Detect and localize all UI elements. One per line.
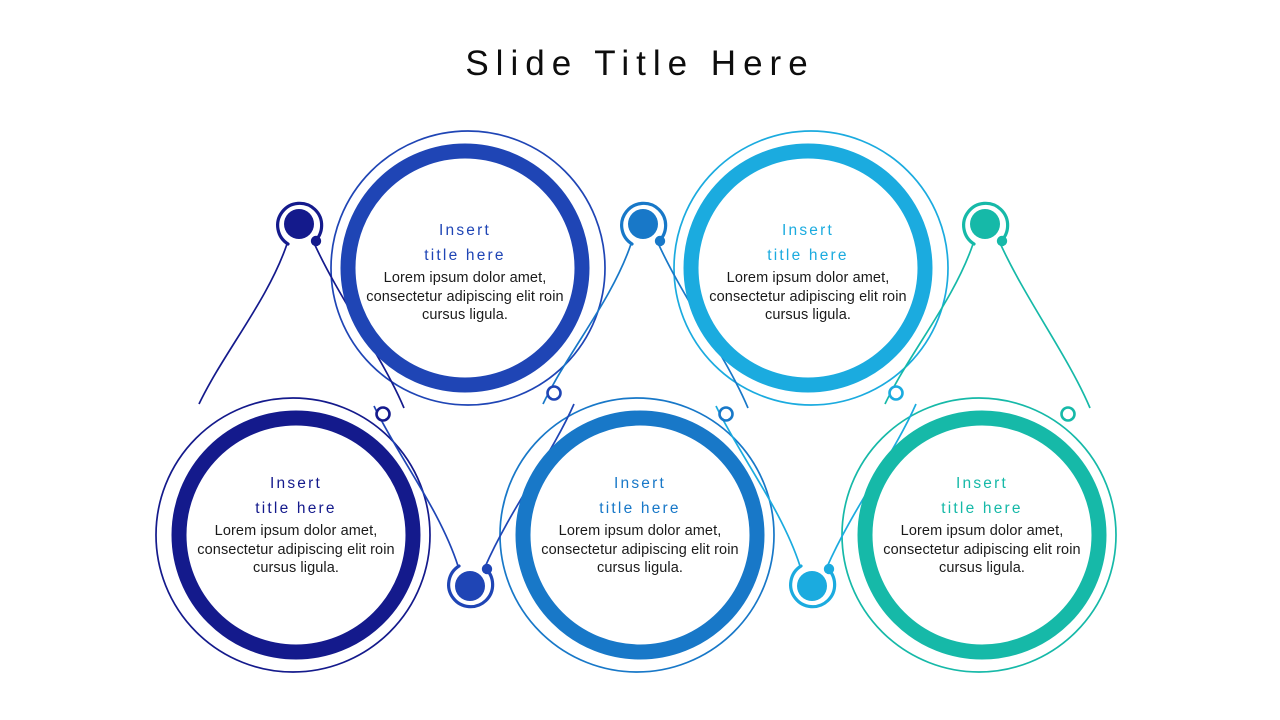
connector-node-5[interactable]	[791, 564, 835, 607]
connector-node-4-tip	[482, 564, 492, 574]
connector-node-4[interactable]	[449, 564, 493, 607]
slide-canvas: Slide Title Here	[0, 0, 1280, 720]
connector-node-5-tip	[824, 564, 834, 574]
connector-node-2-tip	[655, 236, 665, 246]
connector-node-5-dot	[797, 571, 827, 601]
connector-stem-3b	[1000, 243, 1090, 408]
endpoint-node-1	[548, 387, 561, 400]
thin-ring-node-5	[842, 398, 1116, 672]
infographic-diagram	[0, 0, 1280, 720]
ring-node-5	[865, 418, 1099, 652]
connector-node-3-tip	[997, 236, 1007, 246]
ring-node-2	[691, 151, 925, 385]
connector-node-3[interactable]	[964, 203, 1008, 246]
endpoint-node-4	[720, 408, 733, 421]
endpoint-node-3	[377, 408, 390, 421]
thin-ring-node-3	[156, 398, 430, 672]
endpoint-node-5	[1062, 408, 1075, 421]
endpoint-node-2	[890, 387, 903, 400]
ring-node-3	[179, 418, 413, 652]
ring-node-1	[348, 151, 582, 385]
connector-node-1-dot	[284, 209, 314, 239]
connector-node-3-dot	[970, 209, 1000, 239]
connector-node-2-dot	[628, 209, 658, 239]
connector-node-4-dot	[455, 571, 485, 601]
ring-node-4	[523, 418, 757, 652]
connector-stem-1	[199, 244, 287, 404]
connector-node-2[interactable]	[622, 203, 666, 246]
thin-ring-node-1	[331, 131, 605, 405]
connector-node-1[interactable]	[278, 203, 322, 246]
connector-node-1-tip	[311, 236, 321, 246]
